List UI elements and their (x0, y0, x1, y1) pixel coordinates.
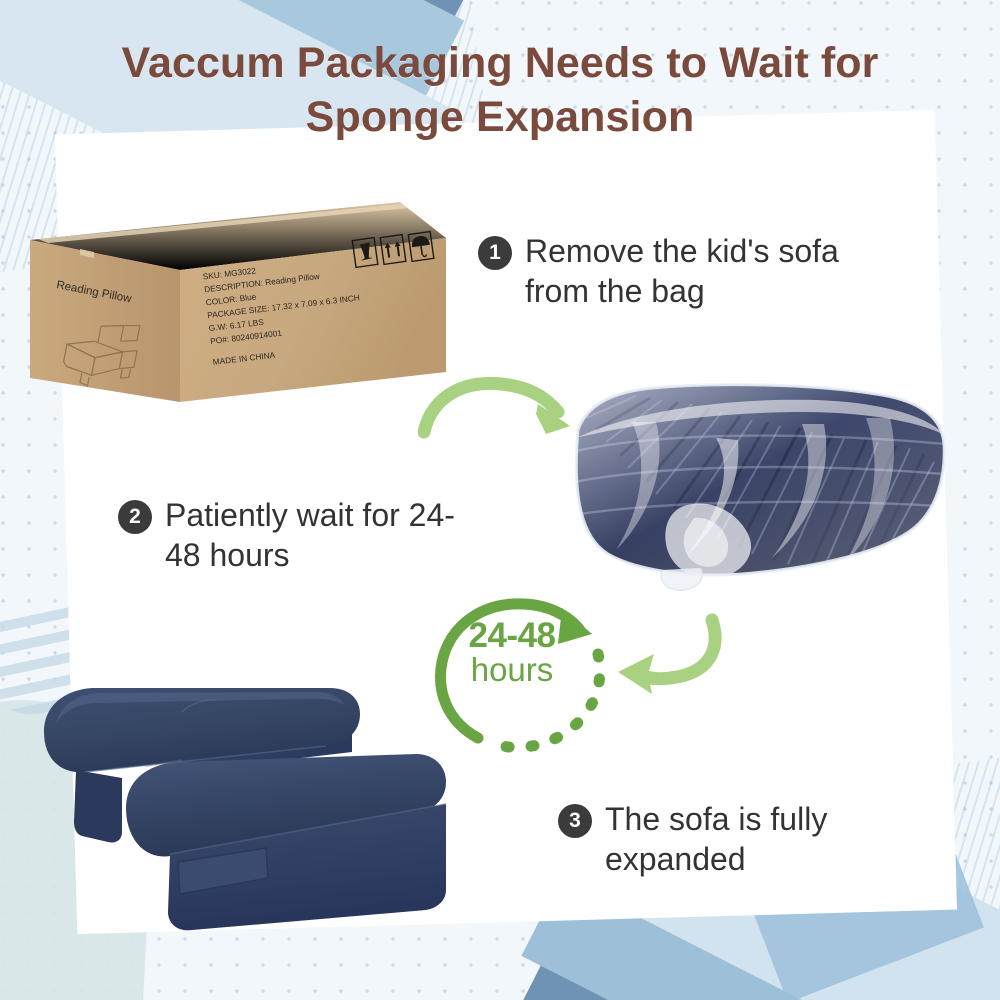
step-1-text: Remove the kid's sofa from the bag (525, 232, 898, 311)
sofa-left-foot (74, 770, 122, 843)
bag-seal-tail (661, 568, 702, 590)
box-svg: Reading Pillow (28, 192, 448, 407)
page-title: Vaccum Packaging Needs to Wait for Spong… (0, 36, 1000, 144)
arrow-box-to-bag-icon (418, 338, 614, 452)
step-1-badge: 1 (478, 236, 512, 270)
vacuum-sealed-bag-photo (566, 378, 952, 600)
step-3-badge: 3 (558, 804, 592, 838)
package-box-illustration: Reading Pillow (28, 192, 448, 407)
wait-timer-label: 24-48 hours (452, 618, 572, 686)
expanded-sofa-photo (30, 676, 450, 938)
step-2: 2 Patiently wait for 24-48 hours (118, 496, 478, 575)
arrow-timer-to-sofa-icon (608, 596, 794, 712)
bag-contents (566, 378, 952, 600)
wait-timer-line-1: 24-48 (452, 618, 572, 653)
page-title-line-2: Sponge Expansion (0, 90, 1000, 144)
wait-timer-line-2: hours (452, 653, 572, 686)
step-3-text: The sofa is fully expanded (605, 800, 918, 879)
step-3: 3 The sofa is fully expanded (558, 800, 918, 879)
step-1: 1 Remove the kid's sofa from the bag (478, 232, 898, 311)
step-2-text: Patiently wait for 24-48 hours (165, 496, 478, 575)
poster-canvas: Vaccum Packaging Needs to Wait for Spong… (0, 0, 1000, 1000)
step-2-badge: 2 (118, 500, 152, 534)
page-title-line-1: Vaccum Packaging Needs to Wait for (0, 36, 1000, 90)
